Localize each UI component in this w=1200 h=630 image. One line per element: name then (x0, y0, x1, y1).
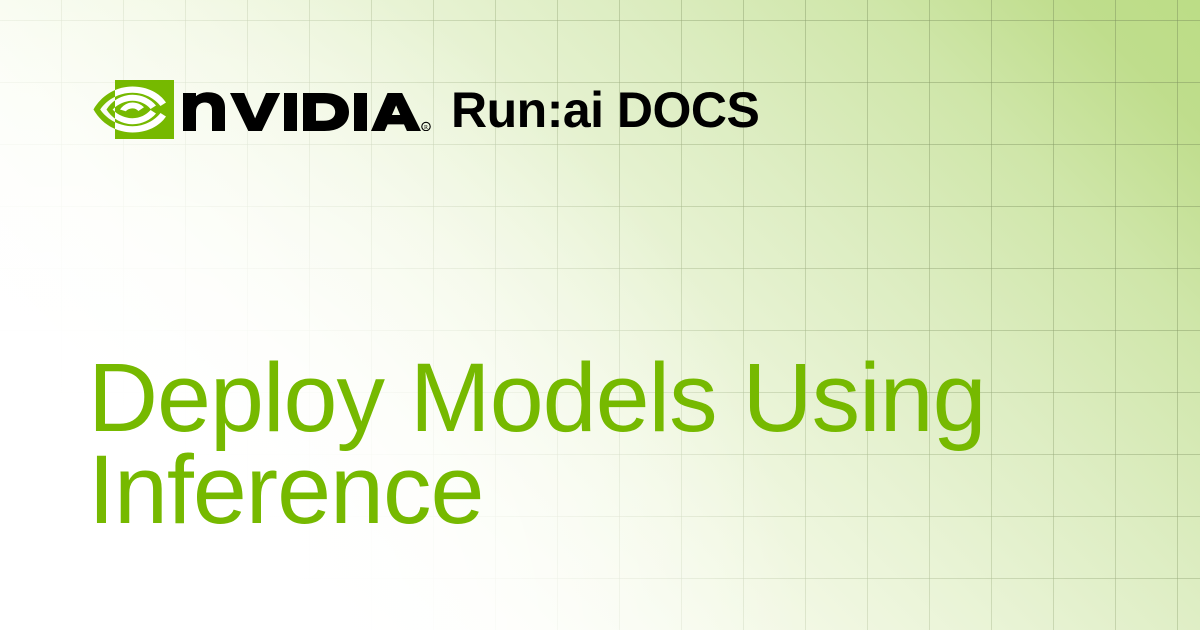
svg-text:R: R (424, 125, 428, 131)
registered-trademark-icon: R (422, 122, 430, 131)
nvidia-eye-logo (92, 74, 174, 144)
page-title: Deploy Models Using Inference (88, 352, 1048, 536)
banner-canvas: R Run:ai DOCS Deploy Models Using Infere… (0, 0, 1200, 630)
nvidia-wordmark: R (183, 87, 431, 131)
brand-lockup: R Run:ai DOCS (92, 74, 759, 144)
product-title: Run:ai DOCS (451, 85, 759, 135)
